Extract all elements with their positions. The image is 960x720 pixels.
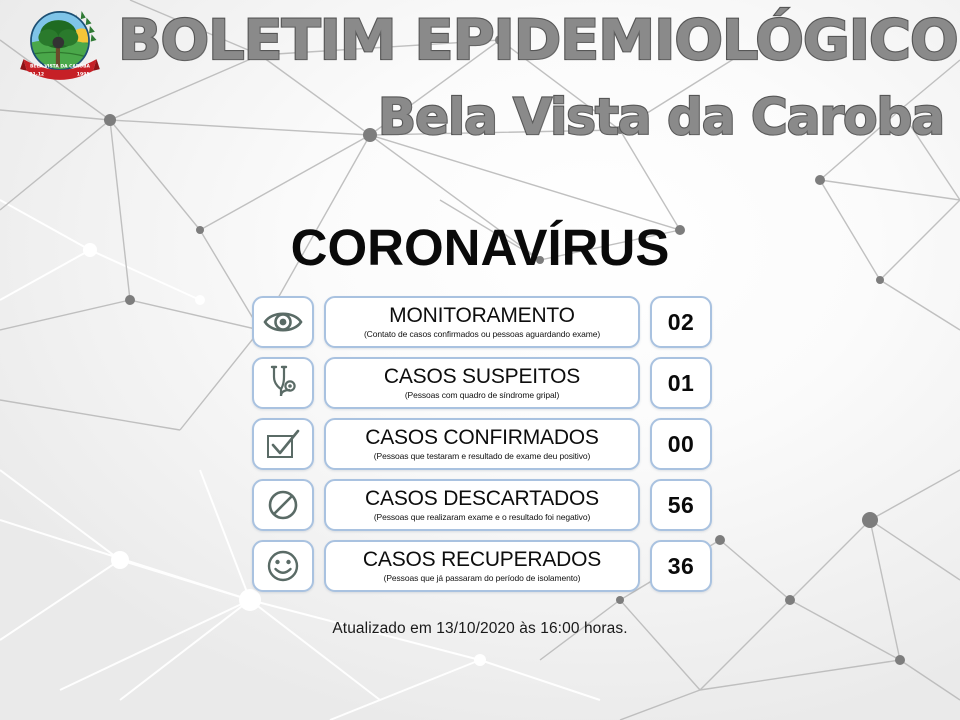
stat-description: (Pessoas com quadro de síndrome gripal) [405, 390, 559, 400]
value-box-casos-confirmados: 00 [650, 418, 712, 470]
logo-banner-city-text: BELA VISTA DA CAROBA [30, 63, 90, 69]
value-box-casos-suspeitos: 01 [650, 357, 712, 409]
municipal-coat-of-arms-logo: BELA VISTA DA CAROBA 21-12 1995 [18, 6, 102, 84]
stat-description: (Contato de casos confirmados ou pessoas… [364, 329, 600, 339]
stat-label: CASOS CONFIRMADOS [365, 427, 598, 448]
icon-box-casos-confirmados [252, 418, 314, 470]
icon-box-monitoramento [252, 296, 314, 348]
checkbox-check-icon [265, 428, 301, 460]
stat-row-casos-confirmados: CASOS CONFIRMADOS (Pessoas que testaram … [252, 418, 712, 470]
stat-label: MONITORAMENTO [389, 305, 575, 326]
page-heading: CORONAVÍRUS [0, 218, 960, 277]
icon-box-casos-suspeitos [252, 357, 314, 409]
value-box-casos-recuperados: 36 [650, 540, 712, 592]
stat-row-casos-recuperados: CASOS RECUPERADOS (Pessoas que já passar… [252, 540, 712, 592]
stethoscope-icon [268, 365, 298, 401]
stat-label: CASOS RECUPERADOS [363, 549, 601, 570]
label-box-casos-confirmados: CASOS CONFIRMADOS (Pessoas que testaram … [324, 418, 640, 470]
label-box-monitoramento: MONITORAMENTO (Contato de casos confirma… [324, 296, 640, 348]
last-updated-text: Atualizado em 13/10/2020 às 16:00 horas. [0, 620, 960, 638]
eye-icon [263, 309, 303, 335]
stat-value: 36 [668, 553, 695, 580]
stat-description: (Pessoas que já passaram do período de i… [384, 573, 581, 583]
value-box-casos-descartados: 56 [650, 479, 712, 531]
stat-value: 00 [668, 431, 695, 458]
stat-value: 56 [668, 492, 695, 519]
logo-banner-date-text: 21-12 [29, 72, 44, 78]
prohibition-icon [267, 489, 299, 521]
stat-label: CASOS SUSPEITOS [384, 366, 580, 387]
stat-description: (Pessoas que realizaram exame e o result… [374, 512, 590, 522]
bulletin-slide: BELA VISTA DA CAROBA 21-12 1995 BOLETIM … [0, 0, 960, 720]
label-box-casos-suspeitos: CASOS SUSPEITOS (Pessoas com quadro de s… [324, 357, 640, 409]
value-box-monitoramento: 02 [650, 296, 712, 348]
stat-row-casos-suspeitos: CASOS SUSPEITOS (Pessoas com quadro de s… [252, 357, 712, 409]
icon-box-casos-recuperados [252, 540, 314, 592]
stat-description: (Pessoas que testaram e resultado de exa… [374, 451, 590, 461]
stat-row-monitoramento: MONITORAMENTO (Contato de casos confirma… [252, 296, 712, 348]
label-box-casos-recuperados: CASOS RECUPERADOS (Pessoas que já passar… [324, 540, 640, 592]
stat-value: 02 [668, 309, 695, 336]
stat-label: CASOS DESCARTADOS [365, 488, 599, 509]
icon-box-casos-descartados [252, 479, 314, 531]
stat-row-casos-descartados: CASOS DESCARTADOS (Pessoas que realizara… [252, 479, 712, 531]
smiley-face-icon [266, 549, 300, 583]
statistics-list: MONITORAMENTO (Contato de casos confirma… [252, 296, 712, 601]
bulletin-title: BOLETIM EPIDEMIOLÓGICO [118, 8, 958, 72]
municipality-name: Bela Vista da Caroba [378, 88, 944, 146]
logo-banner-year-text: 1995 [77, 72, 90, 78]
stat-value: 01 [668, 370, 695, 397]
label-box-casos-descartados: CASOS DESCARTADOS (Pessoas que realizara… [324, 479, 640, 531]
